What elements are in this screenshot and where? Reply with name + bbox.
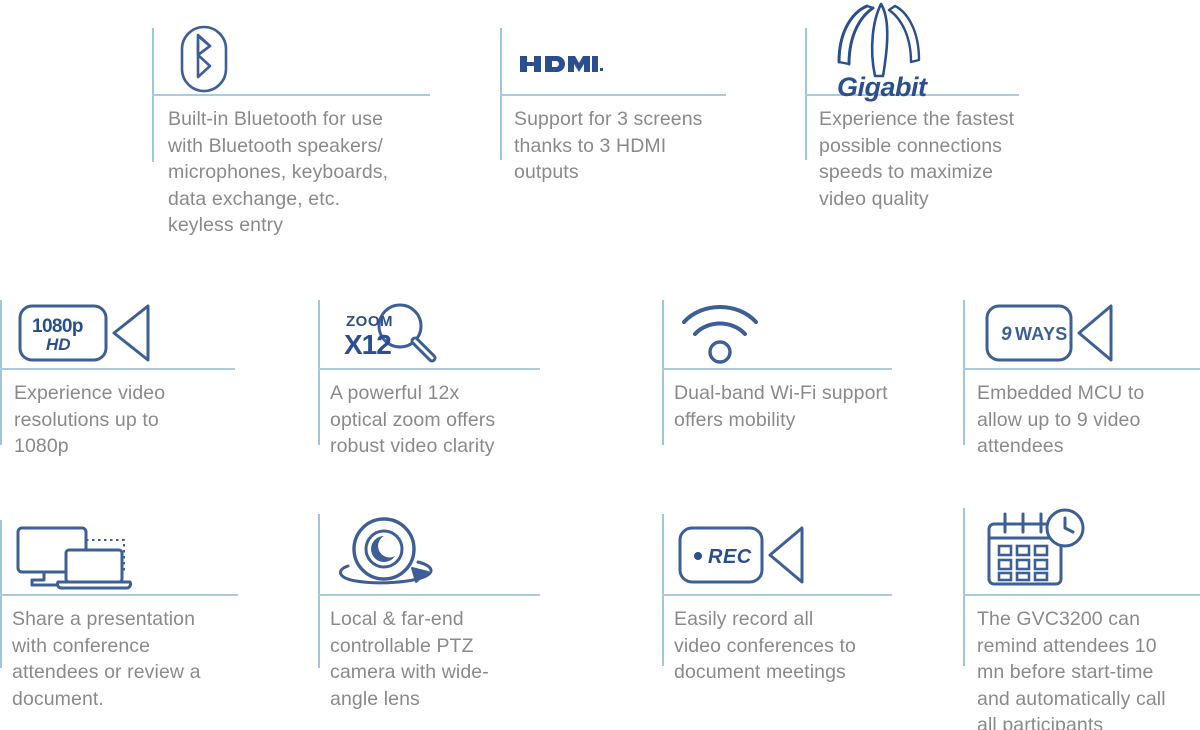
accent-vertical-rule: [318, 514, 320, 668]
feature-card-ptz-camera: Local & far-end controllable PTZ camera …: [318, 514, 558, 724]
divider-rule: [318, 594, 540, 596]
feature-card-calendar-reminder: The GVC3200 can remind attendees 10 mn b…: [963, 508, 1200, 730]
divider-rule: [662, 368, 892, 370]
feature-caption: Dual-band Wi-Fi support offers mobility: [674, 380, 934, 433]
feature-caption: Experience the fastest possible connecti…: [819, 106, 1059, 212]
resolution-label: 1080p: [32, 316, 83, 337]
feature-card-embedded-mcu: 9 WAYS Embedded MCU to allow up to 9 vid…: [963, 300, 1200, 470]
feature-caption: Support for 3 screens thanks to 3 HDMI o…: [514, 106, 750, 186]
feature-caption: Embedded MCU to allow up to 9 video atte…: [977, 380, 1200, 460]
wifi-icon: [678, 300, 774, 366]
feature-card-recording: REC Easily record all video conferences …: [662, 514, 902, 704]
feature-card-optical-zoom: ZOOM X12 A powerful 12x optical zoom off…: [318, 300, 558, 470]
rec-dot-icon: [694, 552, 702, 560]
feature-card-bluetooth: Built-in Bluetooth for use with Bluetoot…: [152, 28, 442, 258]
accent-vertical-rule: [963, 508, 965, 666]
divider-rule: [662, 594, 892, 596]
accent-vertical-rule: [963, 300, 965, 445]
accent-vertical-rule: [318, 300, 320, 445]
hd-label: HD: [46, 335, 71, 354]
divider-rule: [500, 94, 726, 96]
zoom-factor-label: X12: [344, 329, 391, 360]
accent-vertical-rule: [662, 300, 664, 445]
accent-vertical-rule: [0, 300, 2, 445]
ptz-camera-rotate-icon: [332, 516, 452, 592]
feature-card-dual-band-wifi: Dual-band Wi-Fi support offers mobility: [662, 300, 922, 450]
feature-card-gigabit: Gigabit Experience the fastest possible …: [805, 28, 1055, 228]
feature-card-screen-share: Share a presentation with conference att…: [0, 520, 240, 720]
magnifier-zoom-x12-icon: ZOOM X12: [332, 300, 452, 368]
gigabit-icon: Gigabit: [823, 0, 933, 100]
ways-count-label: 9: [1001, 324, 1012, 345]
video-camera-1080p-hd-icon: 1080p HD: [18, 302, 154, 364]
divider-rule: [0, 368, 235, 370]
monitor-laptop-share-icon: [14, 524, 140, 592]
gigabit-label: Gigabit: [837, 72, 928, 102]
feature-caption: Easily record all video conferences to d…: [674, 606, 912, 686]
feature-caption: A powerful 12x optical zoom offers robus…: [330, 380, 566, 460]
zoom-label: ZOOM: [346, 313, 393, 330]
bluetooth-icon: [174, 23, 234, 95]
feature-caption: The GVC3200 can remind attendees 10 mn b…: [977, 606, 1200, 730]
video-camera-rec-icon: REC: [678, 524, 810, 586]
ways-label: WAYS: [1015, 324, 1068, 344]
feature-caption: Experience video resolutions up to 1080p: [14, 380, 244, 460]
feature-card-resolution-1080p: 1080p HD Experience video resolutions up…: [0, 300, 240, 470]
accent-vertical-rule: [662, 514, 664, 666]
feature-caption: Built-in Bluetooth for use with Bluetoot…: [168, 106, 444, 239]
feature-grid: Built-in Bluetooth for use with Bluetoot…: [0, 0, 1200, 730]
hdmi-logo-icon: [518, 50, 604, 78]
divider-rule: [963, 368, 1200, 370]
feature-caption: Local & far-end controllable PTZ camera …: [330, 606, 566, 712]
divider-rule: [963, 594, 1200, 596]
feature-card-hdmi: Support for 3 screens thanks to 3 HDMI o…: [500, 28, 750, 208]
divider-rule: [318, 368, 540, 370]
video-camera-9-ways-icon: 9 WAYS: [985, 302, 1115, 364]
rec-label: REC: [708, 546, 752, 568]
divider-rule: [0, 594, 238, 596]
calendar-clock-icon: [985, 510, 1095, 590]
feature-caption: Share a presentation with conference att…: [12, 606, 252, 712]
